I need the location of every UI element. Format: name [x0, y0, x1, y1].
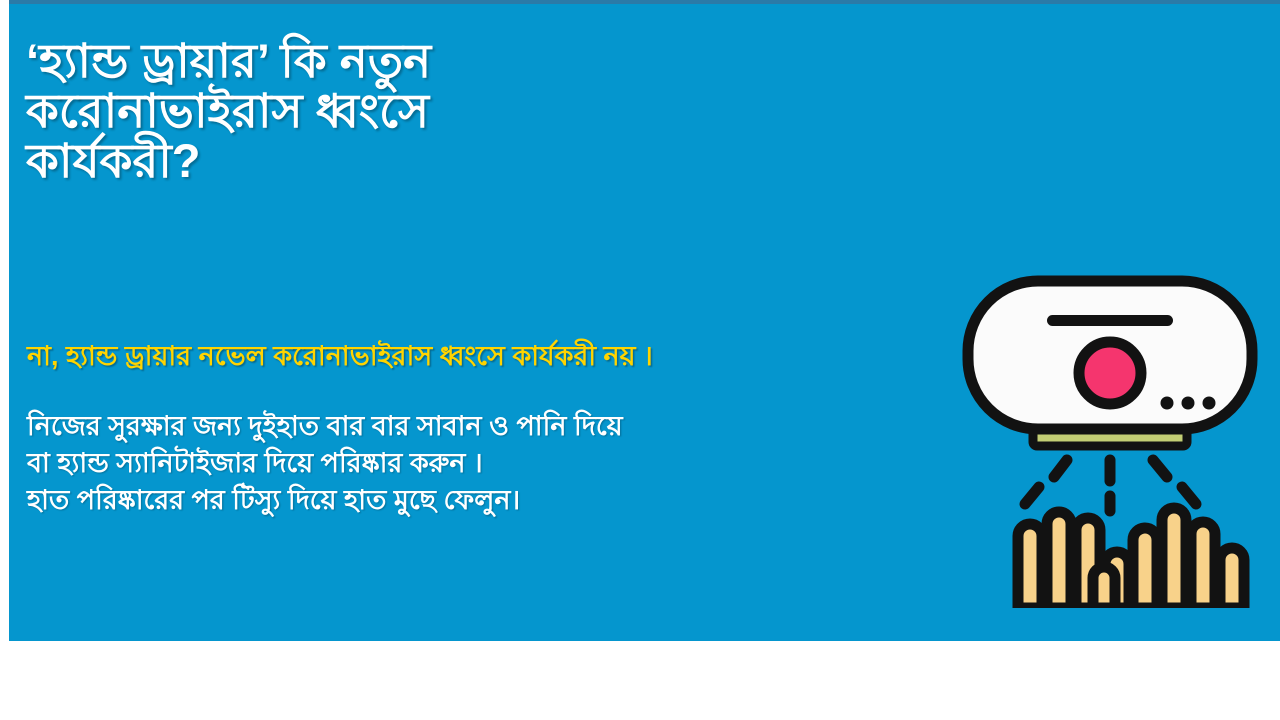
answer-statement: না, হ্যান্ড ড্রায়ার নভেল করোনাভাইরাস ধ্… [27, 340, 957, 372]
dryer-power-button [1079, 342, 1141, 404]
advice-line-2: বা হ্যান্ড স্যানিটাইজার দিয়ে পরিষ্কার ক… [27, 445, 927, 482]
advice-text: নিজের সুরক্ষার জন্য দুইহাত বার বার সাবান… [27, 408, 927, 519]
hands [1018, 508, 1244, 608]
dryer-slot-bar [1047, 315, 1173, 326]
hand-dryer-illustration [955, 268, 1265, 608]
page-title: ‘হ্যান্ড ড্রায়ার’ কি নতুন করোনাভাইরাস ধ… [26, 36, 726, 186]
footer-bar: World Health Organization Bangladesh Pro… [0, 641, 1280, 720]
advice-line-3: হাত পরিষ্কারের পর টিস্যু দিয়ে হাত মুছে … [27, 482, 927, 519]
slide-canvas: ‘হ্যান্ড ড্রায়ার’ কি নতুন করোনাভাইরাস ধ… [0, 0, 1280, 720]
headline-line-1: ‘হ্যান্ড ড্রায়ার’ কি নতুন [26, 36, 726, 86]
headline-line-3: কার্যকরী? [26, 136, 726, 186]
advice-line-1: নিজের সুরক্ষার জন্য দুইহাত বার বার সাবান… [27, 408, 927, 445]
dryer-indicator-dots [1161, 397, 1216, 410]
headline-line-2: করোনাভাইরাস ধ্বংসে [26, 86, 726, 136]
